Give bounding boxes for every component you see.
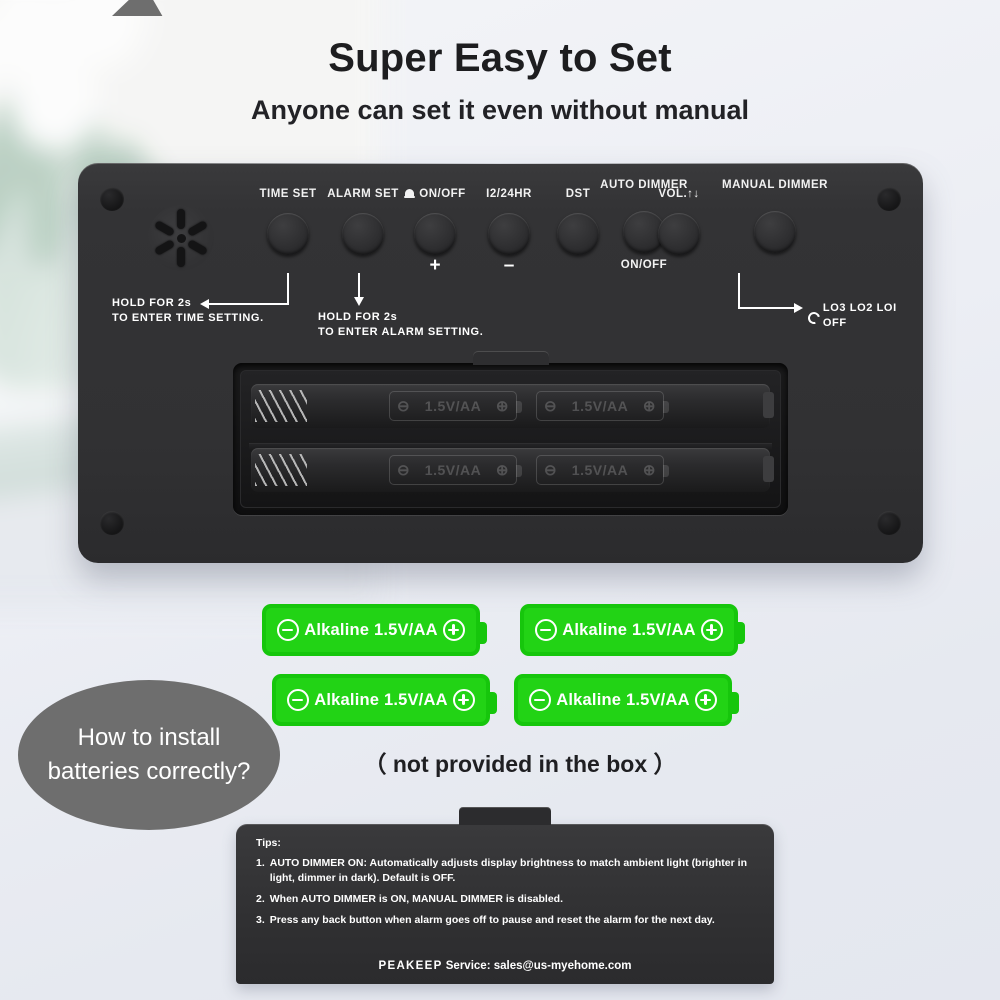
plus-terminal-icon: [701, 619, 723, 641]
auto-dimmer-sublabel: ON/OFF: [563, 259, 725, 271]
manual-dimmer-leader-line: [738, 273, 740, 309]
button-row: TIME SET ALARM SET ON/OFF + I2/24HR – DS…: [78, 163, 923, 303]
minus-terminal-icon: ⊖: [544, 397, 557, 415]
alarm-set-arrow-icon: [354, 297, 364, 306]
button-label: TIME SET: [259, 188, 316, 201]
tips-panel: Tips: 1. AUTO DIMMER ON: Automatically a…: [236, 824, 774, 984]
battery-slot-label: ⊖ 1.5V/AA ⊕: [389, 391, 517, 421]
slot-voltage-text: 1.5V/AA: [425, 462, 481, 478]
tip-item: 1. AUTO DIMMER ON: Automatically adjusts…: [256, 856, 754, 886]
tip-text: AUTO DIMMER ON: Automatically adjusts di…: [270, 856, 754, 886]
speech-bubble-text: How to install batteries correctly?: [30, 721, 269, 789]
minus-symbol: –: [462, 259, 556, 273]
page-subtitle: Anyone can set it even without manual: [0, 95, 1000, 126]
page-title: Super Easy to Set: [0, 36, 1000, 81]
battery-spring: [255, 390, 307, 422]
battery-graphic: Alkaline 1.5V/AA: [520, 604, 738, 656]
tip-number: 2.: [256, 892, 265, 907]
bubble-line-1: How to install: [48, 721, 251, 755]
alarm-hold-text: HOLD FOR 2s: [318, 310, 483, 325]
minus-terminal-icon: [535, 619, 557, 641]
dimmer-levels-text: LO3 LO2 LOI OFF: [823, 301, 923, 331]
button-manual-dimmer[interactable]: MANUAL DIMMER: [686, 165, 864, 253]
clock-back-panel: TIME SET ALARM SET ON/OFF + I2/24HR – DS…: [78, 163, 923, 563]
time-hold-text: HOLD FOR 2s: [112, 296, 264, 311]
battery-slot-label: ⊖ 1.5V/AA ⊕: [389, 455, 517, 485]
time-set-leader-line: [287, 273, 289, 305]
battery-row: ⊖ 1.5V/AA ⊕ ⊖ 1.5V/AA ⊕: [241, 376, 780, 438]
plus-terminal-icon: [443, 619, 465, 641]
rubber-foot: [877, 511, 901, 535]
battery-contact: [763, 392, 774, 418]
plus-terminal-icon: ⊕: [643, 397, 656, 415]
tips-panel-tab: [459, 807, 551, 825]
battery-spring: [255, 454, 307, 486]
knob-12-24hr[interactable]: [488, 213, 530, 255]
battery-illustration-group: Alkaline 1.5V/AA Alkaline 1.5V/AA Alkali…: [262, 604, 762, 742]
plus-terminal-icon: ⊕: [496, 397, 509, 415]
button-label: MANUAL DIMMER: [722, 179, 828, 192]
battery-graphic: Alkaline 1.5V/AA: [514, 674, 732, 726]
minus-terminal-icon: [287, 689, 309, 711]
manual-dimmer-leader-line-h: [738, 307, 794, 309]
battery-label: Alkaline 1.5V/AA: [314, 691, 447, 710]
plus-terminal-icon: [453, 689, 475, 711]
plus-terminal-icon: [695, 689, 717, 711]
tips-title: Tips:: [256, 837, 754, 849]
heading-block: Super Easy to Set Anyone can set it even…: [0, 36, 1000, 126]
minus-terminal-icon: ⊖: [397, 461, 410, 479]
tip-text: When AUTO DIMMER is ON, MANUAL DIMMER is…: [270, 892, 563, 907]
brand-name: PEAKEEP: [379, 960, 443, 972]
bubble-line-2: batteries correctly?: [48, 755, 251, 789]
battery-slot-label: ⊖ 1.5V/AA ⊕: [536, 455, 664, 485]
minus-terminal-icon: ⊖: [397, 397, 410, 415]
battery-label: Alkaline 1.5V/AA: [304, 621, 437, 640]
battery-contact: [763, 456, 774, 482]
battery-graphic: Alkaline 1.5V/AA: [262, 604, 480, 656]
tips-footer: PEAKEEP Service: sales@us-myehome.com: [236, 960, 774, 972]
battery-slot-label: ⊖ 1.5V/AA ⊕: [536, 391, 664, 421]
knob-manual-dimmer[interactable]: [754, 211, 796, 253]
alarm-set-leader-line: [358, 273, 360, 299]
speech-bubble: How to install batteries correctly?: [18, 680, 280, 830]
tip-number: 1.: [256, 856, 265, 886]
tip-number: 3.: [256, 913, 265, 928]
tip-text: Press any back button when alarm goes of…: [270, 913, 715, 928]
battery-label: Alkaline 1.5V/AA: [562, 621, 695, 640]
slot-voltage-text: 1.5V/AA: [572, 398, 628, 414]
battery-graphic: Alkaline 1.5V/AA: [272, 674, 490, 726]
slot-voltage-text: 1.5V/AA: [572, 462, 628, 478]
battery-door-tab[interactable]: [473, 351, 549, 365]
battery-compartment: ⊖ 1.5V/AA ⊕ ⊖ 1.5V/AA ⊕ ⊖ 1.5V/AA: [233, 363, 788, 515]
tip-item: 3. Press any back button when alarm goes…: [256, 913, 754, 928]
tip-item: 2. When AUTO DIMMER is ON, MANUAL DIMMER…: [256, 892, 754, 907]
knob-time-set[interactable]: [267, 213, 309, 255]
minus-terminal-icon: ⊖: [544, 461, 557, 479]
battery-label: Alkaline 1.5V/AA: [556, 691, 689, 710]
cycle-icon: [806, 310, 822, 326]
rubber-foot: [100, 511, 124, 535]
time-action-text: TO ENTER TIME SETTING.: [112, 311, 264, 326]
battery-row: ⊖ 1.5V/AA ⊕ ⊖ 1.5V/AA ⊕: [241, 440, 780, 502]
minus-terminal-icon: [277, 619, 299, 641]
alarm-action-text: TO ENTER ALARM SETTING.: [318, 325, 483, 340]
bell-icon: [404, 188, 415, 200]
batteries-not-included-note: （ not provided in the box ）: [330, 745, 710, 779]
slot-voltage-text: 1.5V/AA: [425, 398, 481, 414]
knob-alarm-onoff[interactable]: [414, 213, 456, 255]
minus-terminal-icon: [529, 689, 551, 711]
plus-terminal-icon: ⊕: [496, 461, 509, 479]
service-contact: Service: sales@us-myehome.com: [446, 960, 632, 972]
knob-alarm-set[interactable]: [342, 213, 384, 255]
button-label: ON/OFF: [419, 188, 465, 201]
button-label: I2/24HR: [486, 188, 532, 201]
manual-dimmer-arrow-icon: [794, 303, 803, 313]
plus-terminal-icon: ⊕: [643, 461, 656, 479]
battery-bay-inner: ⊖ 1.5V/AA ⊕ ⊖ 1.5V/AA ⊕ ⊖ 1.5V/AA: [240, 370, 781, 508]
